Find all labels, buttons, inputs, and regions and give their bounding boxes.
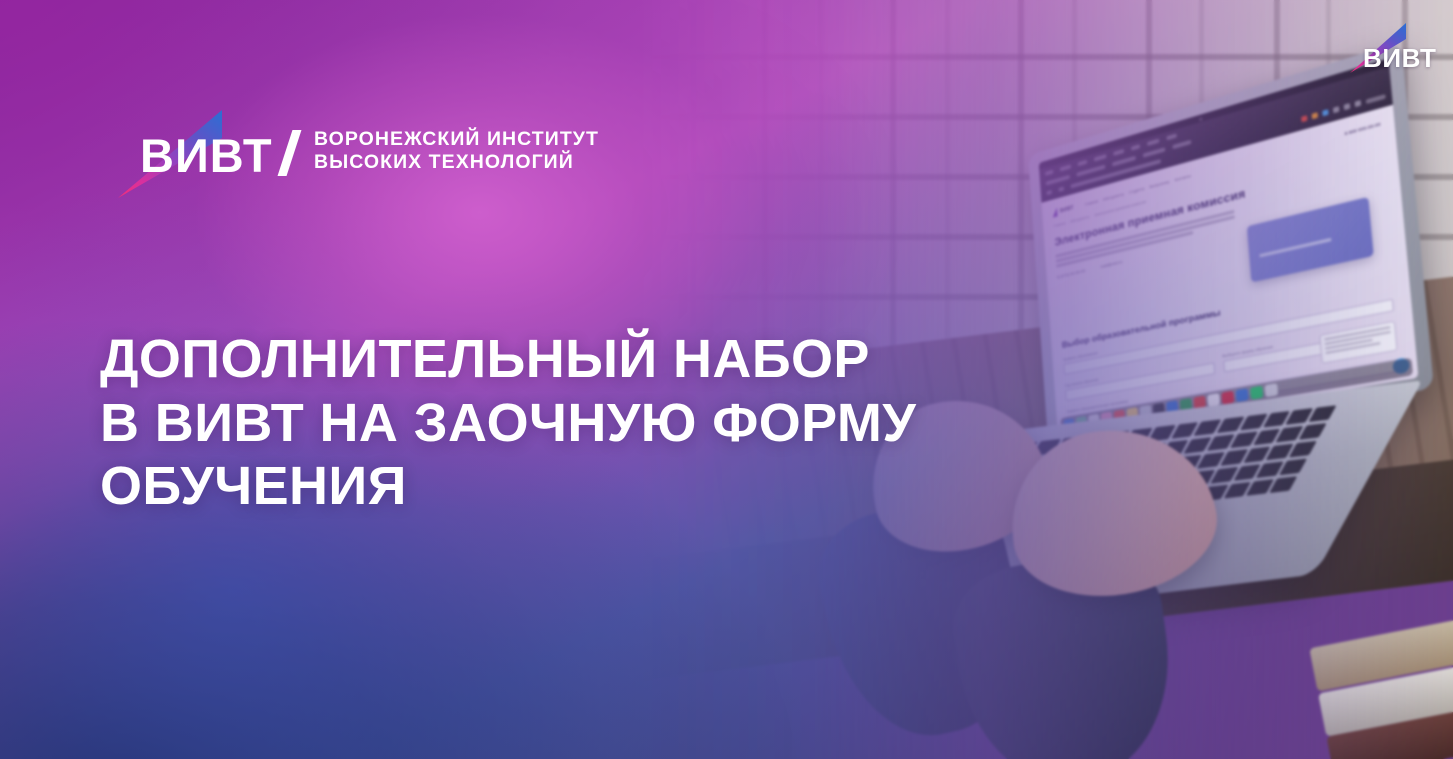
nav-item[interactable]: Главная [1085, 199, 1098, 207]
logo-slash-icon [278, 130, 302, 176]
vivt-logomark: ВИВТ [110, 112, 306, 190]
headline-line-1: ДОПОЛНИТЕЛЬНЫЙ НАБОР [100, 328, 916, 392]
book-stack [1301, 582, 1453, 759]
site-logo-text: ВИВТ [1060, 204, 1074, 214]
header-logo[interactable]: ВИВТ ВОРОНЕЖСКИЙ ИНСТИТУТ ВЫСОКИХ ТЕХНОЛ… [110, 112, 599, 190]
nav-item[interactable]: Абитуриенту [1103, 192, 1124, 202]
site-logo[interactable]: ВИВТ [1052, 203, 1074, 218]
breadcrumb-item[interactable]: Абитуриенту [1070, 215, 1089, 224]
vivt-wordmark: ВИВТ [1363, 45, 1437, 71]
dock-icon [1250, 386, 1263, 400]
contact-email[interactable]: mail@vivt.ru [1100, 259, 1122, 269]
headline-line-2: В ВИВТ НА ЗАОЧНУЮ ФОРМУ [100, 392, 916, 456]
dock-icon [1265, 383, 1279, 397]
contact-phone[interactable]: 8 (473) 00-00-00 [1057, 268, 1085, 280]
vivt-wordmark: ВИВТ [140, 132, 273, 179]
institute-subtitle: ВОРОНЕЖСКИЙ ИНСТИТУТ ВЫСОКИХ ТЕХНОЛОГИЙ [314, 128, 599, 174]
headline-line-3: ОБУЧЕНИЯ [100, 455, 916, 519]
nav-item[interactable]: Студенту [1129, 186, 1145, 194]
nav-item[interactable]: Выпускнику [1149, 179, 1169, 189]
promo-banner: ВИВТ Главная Абитуриенту Студенту Выпуск… [0, 0, 1453, 759]
subtitle-line-2: ВЫСОКИХ ТЕХНОЛОГИЙ [314, 151, 599, 174]
headline: ДОПОЛНИТЕЛЬНЫЙ НАБОР В ВИВТ НА ЗАОЧНУЮ Ф… [100, 328, 916, 519]
breadcrumb-item[interactable]: Главная [1053, 221, 1065, 228]
corner-watermark-logo: ВИВТ [1341, 22, 1453, 80]
logo-triangle-icon [1052, 207, 1057, 217]
site-phone: 8 800 000-00-00 [1344, 121, 1380, 136]
subtitle-line-1: ВОРОНЕЖСКИЙ ИНСТИТУТ [314, 128, 599, 151]
dock-icon [1236, 388, 1249, 402]
nav-item[interactable]: Контакты [1174, 173, 1191, 182]
promo-card[interactable] [1247, 197, 1374, 283]
